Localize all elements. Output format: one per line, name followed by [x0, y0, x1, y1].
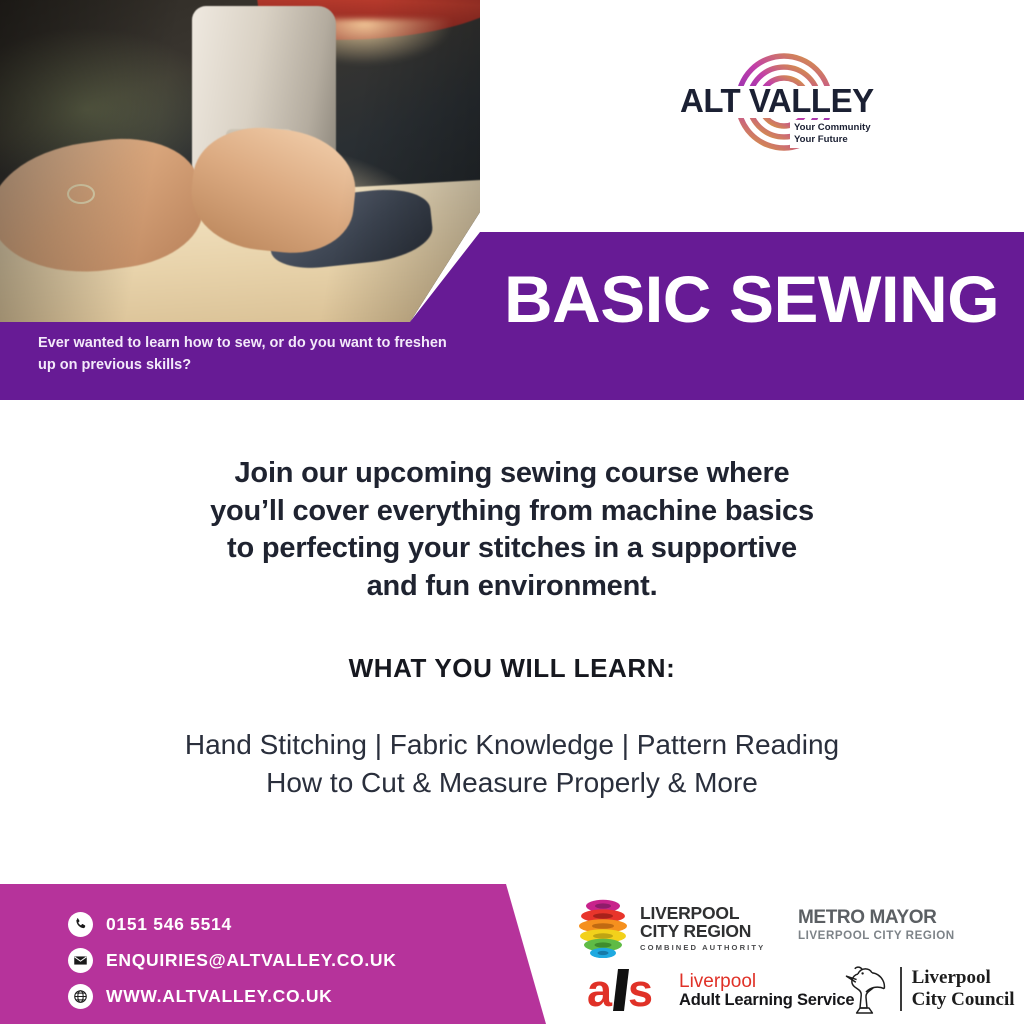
lead-line-2: you’ll cover everything from machine bas… — [62, 493, 962, 531]
als-monogram-icon: a s — [588, 967, 672, 1011]
learn-line-1: Hand Stitching | Fabric Knowledge | Patt… — [62, 726, 962, 765]
page-title: BASIC SEWING — [504, 266, 1022, 332]
lead-line-1: Join our upcoming sewing course where — [62, 455, 962, 493]
globe-icon — [68, 984, 93, 1009]
hero-photo — [0, 0, 480, 322]
lcc-line-1: Liverpool — [912, 967, 1015, 989]
phone-number: 0151 546 5514 — [106, 914, 232, 935]
als-line-2: Adult Learning Service — [679, 992, 854, 1009]
logo-tagline-1: Your Community — [794, 122, 871, 133]
svg-text:s: s — [628, 967, 653, 1011]
hero-subtitle: Ever wanted to learn how to sew, or do y… — [38, 332, 468, 377]
alt-valley-logo: ALT VALLEY Your Community Your Future — [672, 34, 896, 170]
body-content: Join our upcoming sewing course where yo… — [62, 455, 962, 803]
contact-block: 0151 546 5514 ENQUIRIES@ALTVALLEY.CO.UK … — [68, 906, 498, 1014]
contact-row-phone[interactable]: 0151 546 5514 — [68, 906, 498, 942]
learn-line-2: How to Cut & Measure Properly & More — [62, 764, 962, 803]
lcc-wordmark: Liverpool City Council — [912, 967, 1015, 1011]
svg-text:ALT VALLEY: ALT VALLEY — [680, 82, 874, 119]
lcc-line-2: City Council — [912, 989, 1015, 1011]
als-line-1: Liverpool — [679, 972, 854, 992]
liver-bird-icon — [838, 962, 890, 1016]
lcr-line-3: COMBINED AUTHORITY — [640, 944, 765, 952]
lcr-line-1: LIVERPOOL — [640, 905, 765, 923]
learn-list: Hand Stitching | Fabric Knowledge | Patt… — [62, 726, 962, 803]
lcr-globe-icon — [575, 898, 631, 958]
lcr-wordmark: LIVERPOOL CITY REGION COMBINED AUTHORITY — [640, 905, 765, 952]
envelope-icon — [68, 948, 93, 973]
lead-paragraph: Join our upcoming sewing course where yo… — [62, 455, 962, 606]
als-wordmark: Liverpool Adult Learning Service — [679, 972, 854, 1011]
phone-icon — [68, 912, 93, 937]
metro-mayor-logo: METRO MAYOR LIVERPOOL CITY REGION — [798, 908, 955, 942]
als-liverpool-logo: a s Liverpool Adult Learning Service — [588, 967, 854, 1011]
lead-line-3: to perfecting your stitches in a support… — [62, 530, 962, 568]
metro-mayor-line-2: LIVERPOOL CITY REGION — [798, 930, 955, 942]
learn-heading: WHAT YOU WILL LEARN: — [62, 653, 962, 684]
lcc-divider — [900, 967, 902, 1011]
svg-text:a: a — [588, 967, 613, 1011]
liverpool-city-region-logo: LIVERPOOL CITY REGION COMBINED AUTHORITY — [575, 898, 765, 958]
logo-tagline-2: Your Future — [794, 134, 848, 145]
lcr-line-2: CITY REGION — [640, 923, 765, 941]
photo-vignette — [0, 0, 480, 322]
liverpool-city-council-logo: Liverpool City Council — [838, 962, 1015, 1016]
website-url: WWW.ALTVALLEY.CO.UK — [106, 986, 333, 1007]
contact-row-website[interactable]: WWW.ALTVALLEY.CO.UK — [68, 978, 498, 1014]
metro-mayor-line-1: METRO MAYOR — [798, 908, 955, 927]
contact-row-email[interactable]: ENQUIRIES@ALTVALLEY.CO.UK — [68, 942, 498, 978]
email-address: ENQUIRIES@ALTVALLEY.CO.UK — [106, 950, 397, 971]
poster-canvas: BASIC SEWING Ever wanted to learn how to… — [0, 0, 1024, 1024]
lead-line-4: and fun environment. — [62, 568, 962, 606]
